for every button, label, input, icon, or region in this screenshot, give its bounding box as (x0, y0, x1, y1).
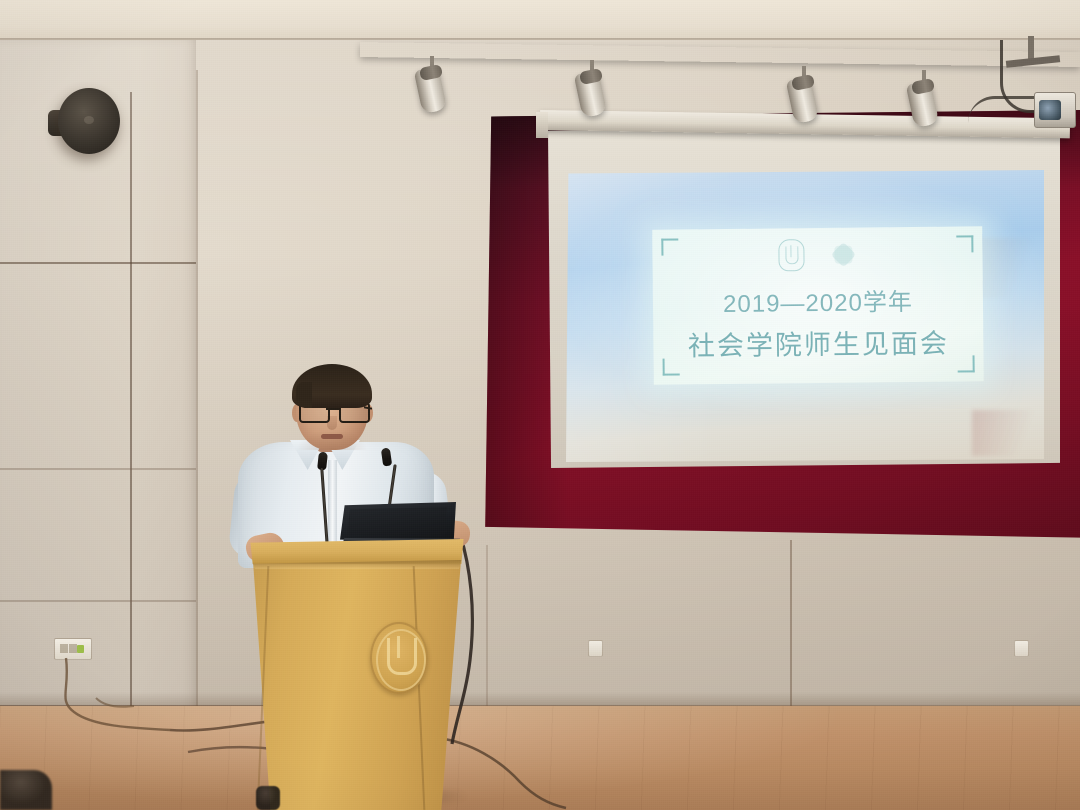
emblem-center-bar (397, 636, 400, 658)
lectern-top-surface (246, 538, 468, 564)
outlet-indicator (77, 645, 84, 653)
laptop-screen (347, 507, 447, 537)
track-spotlight-1 (418, 56, 444, 110)
lower-wall-seam-mid (486, 545, 488, 707)
wall-power-outlet-left[interactable] (54, 638, 92, 660)
speaker-mouth (321, 434, 343, 439)
slide-event-title: 社会学院师生见面会 (653, 321, 983, 363)
slide-title-card: 2019—2020学年 社会学院师生见面会 (652, 226, 984, 384)
university-shield-logo-icon (778, 239, 804, 271)
slide-academic-year: 2019—2020学年 (653, 281, 983, 319)
emblem-u-shape (387, 638, 417, 675)
track-spotlight-3 (790, 66, 816, 120)
lecture-hall-photo: 2019—2020学年 社会学院师生见面会 (0, 0, 1080, 810)
wall-power-outlet-right[interactable] (1014, 640, 1029, 657)
microphone-gooseneck (320, 468, 328, 546)
college-emblem-logo-icon (830, 242, 856, 268)
screen-roller-endcap (536, 112, 548, 138)
eyeglass-bridge (326, 408, 339, 410)
floor-reflection (0, 706, 1080, 810)
slide-text-block: 2019—2020学年 社会学院师生见面会 (653, 281, 984, 363)
projector-lens-icon (1039, 100, 1061, 120)
screen-reflection-lower (972, 410, 1046, 456)
university-u-emblem-icon (370, 622, 428, 694)
projector-ceiling-mount (1028, 36, 1034, 60)
projector-cable-secondary (968, 96, 1038, 123)
lower-wall-seam-right (790, 540, 792, 708)
microphone-capsule (381, 447, 392, 466)
slide-logo-row (652, 237, 982, 272)
wall-power-outlet-mid[interactable] (588, 640, 603, 657)
microphone-left[interactable] (318, 452, 332, 544)
speaker-hair (292, 364, 372, 408)
speaker-highlight (84, 116, 94, 124)
lectern-body (246, 556, 468, 810)
foreground-object-left (0, 770, 52, 810)
track-spotlight-4 (910, 70, 936, 124)
lectern (246, 538, 468, 810)
outlet-slot (60, 644, 68, 653)
track-spotlight-2 (578, 60, 604, 114)
wall-mounted-speaker (48, 88, 120, 156)
foreground-object-podium-base (256, 786, 280, 810)
outlet-slot (69, 644, 77, 653)
